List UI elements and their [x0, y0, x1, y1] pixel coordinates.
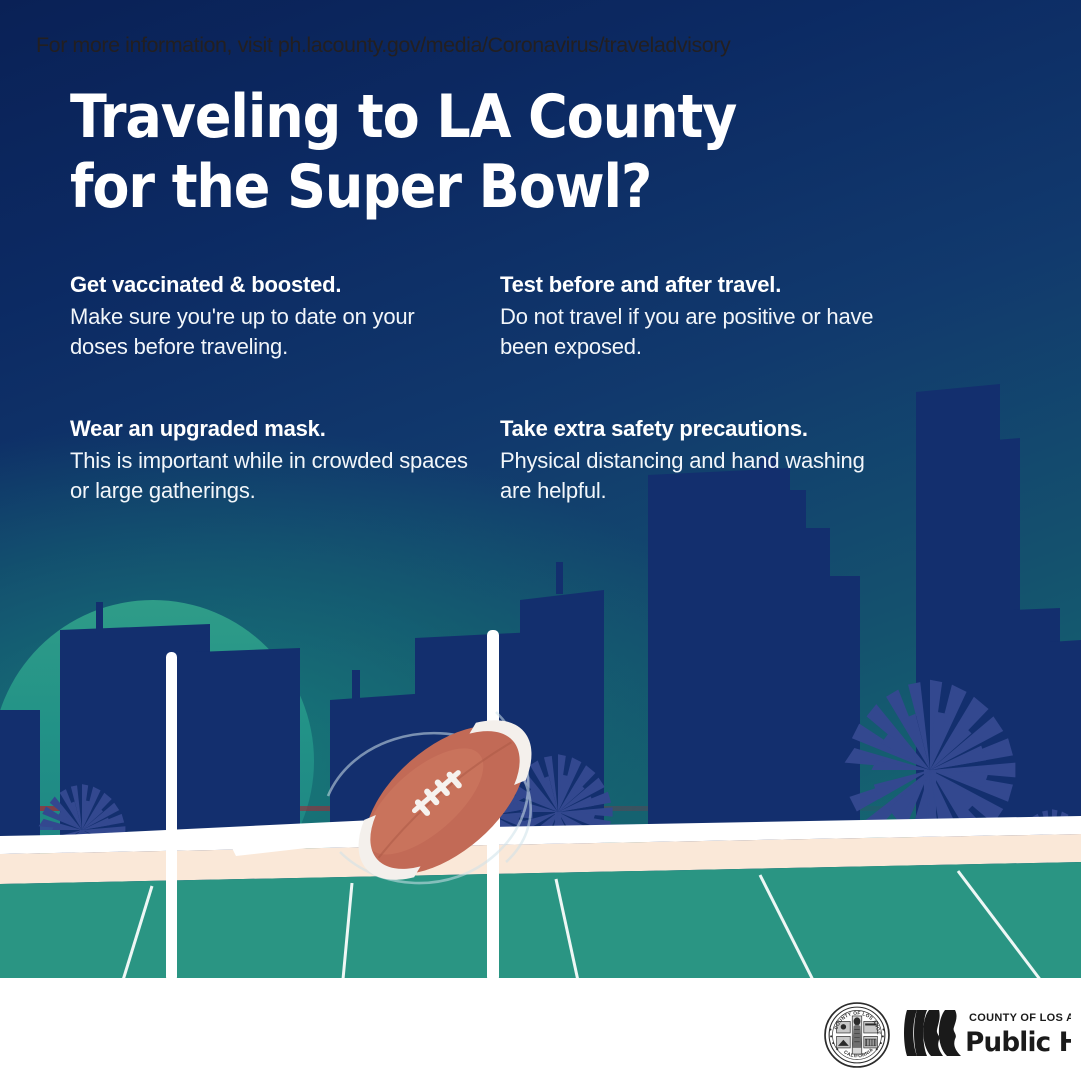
tip-item: Wear an upgraded mask. This is important… [70, 414, 470, 506]
tips-column-left: Get vaccinated & boosted. Make sure you'… [70, 270, 470, 534]
tip-body: This is important while in crowded space… [70, 446, 470, 506]
page-title: Traveling to LA County for the Super Bow… [70, 82, 862, 222]
tip-title: Get vaccinated & boosted. [70, 270, 470, 300]
american-football [300, 700, 590, 900]
tip-body: Physical distancing and hand washing are… [500, 446, 900, 506]
logo-line1-text: COUNTY OF LOS ANGELES [969, 1012, 1071, 1024]
tips-column-right: Test before and after travel. Do not tra… [500, 270, 900, 534]
footer-info-text: For more information, visit ph.lacounty.… [36, 33, 730, 58]
tip-title: Take extra safety precautions. [500, 414, 900, 444]
tip-body: Do not travel if you are positive or hav… [500, 302, 900, 362]
tip-title: Test before and after travel. [500, 270, 900, 300]
tip-item: Take extra safety precautions. Physical … [500, 414, 900, 506]
tip-item: Test before and after travel. Do not tra… [500, 270, 900, 362]
tip-body: Make sure you're up to date on your dose… [70, 302, 470, 362]
tip-item: Get vaccinated & boosted. Make sure you'… [70, 270, 470, 362]
poster-canvas: Traveling to LA County for the Super Bow… [0, 0, 1081, 1080]
public-health-logo: COUNTY OF LOS ANGELES Public Health [903, 1006, 1071, 1060]
logo-line2-text: Public Health [965, 1027, 1071, 1058]
county-seal-icon: COUNTY OF LOS ANGELES CALIFORNIA [823, 1001, 891, 1069]
tip-title: Wear an upgraded mask. [70, 414, 470, 444]
